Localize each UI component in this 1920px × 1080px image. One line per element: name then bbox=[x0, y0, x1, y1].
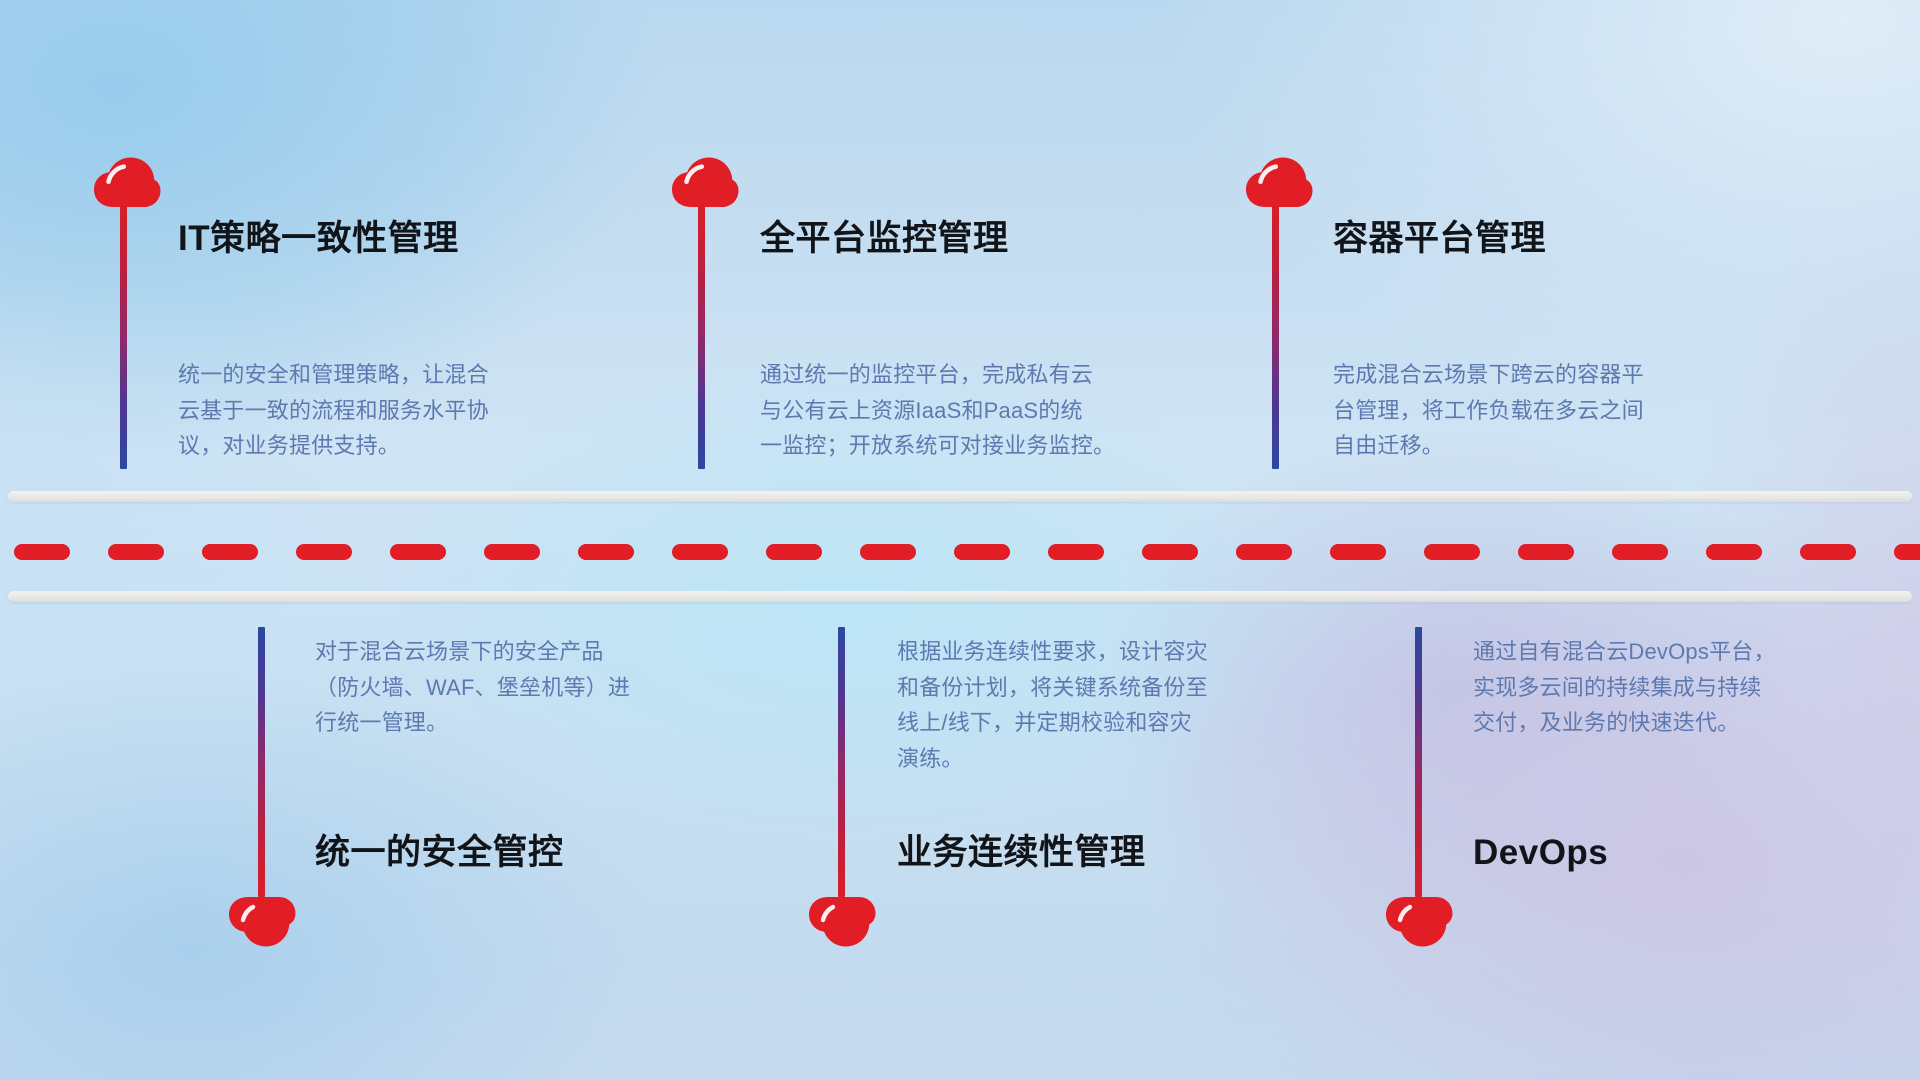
milestone-description: 统一的安全和管理策略，让混合 云基于一致的流程和服务水平协 议，对业务提供支持。 bbox=[178, 357, 608, 464]
cloud-icon bbox=[228, 895, 296, 947]
milestone-description: 完成混合云场景下跨云的容器平 台管理，将工作负载在多云之间 自由迁移。 bbox=[1333, 357, 1773, 464]
milestone-description: 通过统一的监控平台，完成私有云 与公有云上资源IaaS和PaaS的统 一监控；开… bbox=[760, 357, 1210, 464]
road-dash bbox=[202, 544, 258, 560]
milestone-title: DevOps bbox=[1473, 832, 1608, 874]
cloud-icon bbox=[808, 895, 876, 947]
milestone-title: 全平台监控管理 bbox=[760, 218, 1009, 260]
milestone-stem bbox=[120, 205, 127, 469]
road-dash bbox=[860, 544, 916, 560]
road-dash bbox=[14, 544, 70, 560]
road-rail-upper bbox=[8, 491, 1912, 502]
milestone-stem bbox=[1415, 627, 1422, 897]
road-dash bbox=[1518, 544, 1574, 560]
road-dash bbox=[1048, 544, 1104, 560]
milestone-stem bbox=[838, 627, 845, 897]
road-center-dashes bbox=[0, 543, 1920, 560]
road-dash bbox=[1142, 544, 1198, 560]
road-rail-lower bbox=[8, 591, 1912, 602]
cloud-icon bbox=[1245, 157, 1313, 209]
road-dash bbox=[1236, 544, 1292, 560]
milestone-description: 对于混合云场景下的安全产品 （防火墙、WAF、堡垒机等）进 行统一管理。 bbox=[315, 634, 745, 741]
road-dash bbox=[1706, 544, 1762, 560]
cloud-icon bbox=[93, 157, 161, 209]
milestone-description: 根据业务连续性要求，设计容灾 和备份计划，将关键系统备份至 线上/线下，并定期校… bbox=[897, 634, 1337, 777]
road-dash bbox=[1612, 544, 1668, 560]
milestone-title: 业务连续性管理 bbox=[897, 832, 1146, 874]
road-dash bbox=[954, 544, 1010, 560]
cloud-icon bbox=[1385, 895, 1453, 947]
road-dash bbox=[1894, 544, 1920, 560]
road-dash bbox=[1330, 544, 1386, 560]
road-dash bbox=[296, 544, 352, 560]
road-dash bbox=[1424, 544, 1480, 560]
road-dash bbox=[108, 544, 164, 560]
milestone-stem bbox=[1272, 205, 1279, 469]
milestone-title: 容器平台管理 bbox=[1333, 218, 1546, 260]
milestone-title: IT策略一致性管理 bbox=[178, 218, 459, 260]
infographic-canvas: IT策略一致性管理 统一的安全和管理策略，让混合 云基于一致的流程和服务水平协 … bbox=[0, 0, 1920, 1080]
road-dash bbox=[390, 544, 446, 560]
road-dash bbox=[672, 544, 728, 560]
milestone-stem bbox=[258, 627, 265, 897]
road-dash bbox=[578, 544, 634, 560]
road-dash bbox=[484, 544, 540, 560]
road-dash bbox=[1800, 544, 1856, 560]
milestone-stem bbox=[698, 205, 705, 469]
milestone-description: 通过自有混合云DevOps平台， 实现多云间的持续集成与持续 交付，及业务的快速… bbox=[1473, 634, 1903, 741]
road-dash bbox=[766, 544, 822, 560]
milestone-title: 统一的安全管控 bbox=[315, 832, 564, 874]
cloud-icon bbox=[671, 157, 739, 209]
